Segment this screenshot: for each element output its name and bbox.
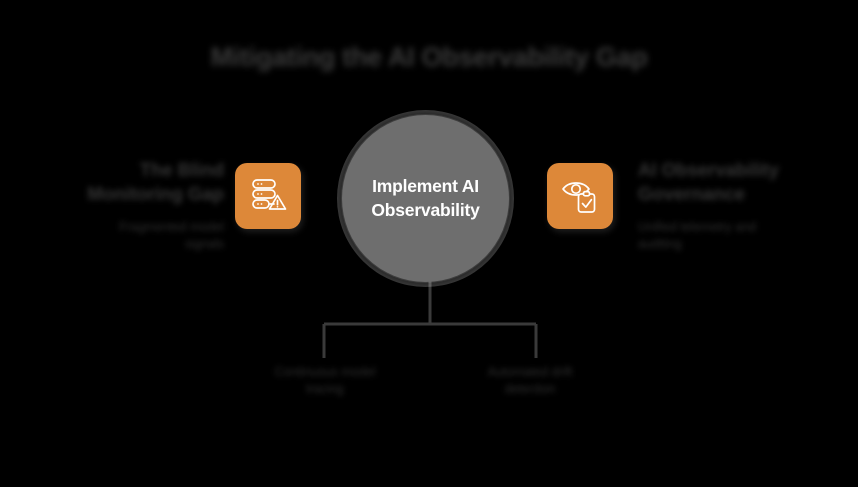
hub-circle[interactable]: Implement AI Observability [342,115,509,282]
page-title: Mitigating the AI Observability Gap [0,42,858,73]
child-label: Continuous model tracing [235,364,415,399]
connector-lines [280,280,580,370]
eye-clipboard-tile[interactable] [547,163,613,229]
left-text-block: The Blind Monitoring Gap Fragmented mode… [34,158,224,253]
right-heading: AI Observability Governance [638,158,830,206]
left-body: Fragmented model signals [34,219,224,253]
server-warning-icon [247,175,289,217]
left-heading: The Blind Monitoring Gap [34,158,224,206]
server-warning-tile[interactable] [235,163,301,229]
eye-clipboard-check-icon [559,175,601,217]
infographic-canvas: Mitigating the AI Observability Gap Impl… [0,0,858,487]
child-label: Automated drift detection [440,364,620,399]
right-text-block: AI Observability Governance Unified tele… [638,158,830,253]
hub-label: Implement AI Observability [351,175,501,222]
right-body: Unified telemetry and auditing [638,219,830,253]
